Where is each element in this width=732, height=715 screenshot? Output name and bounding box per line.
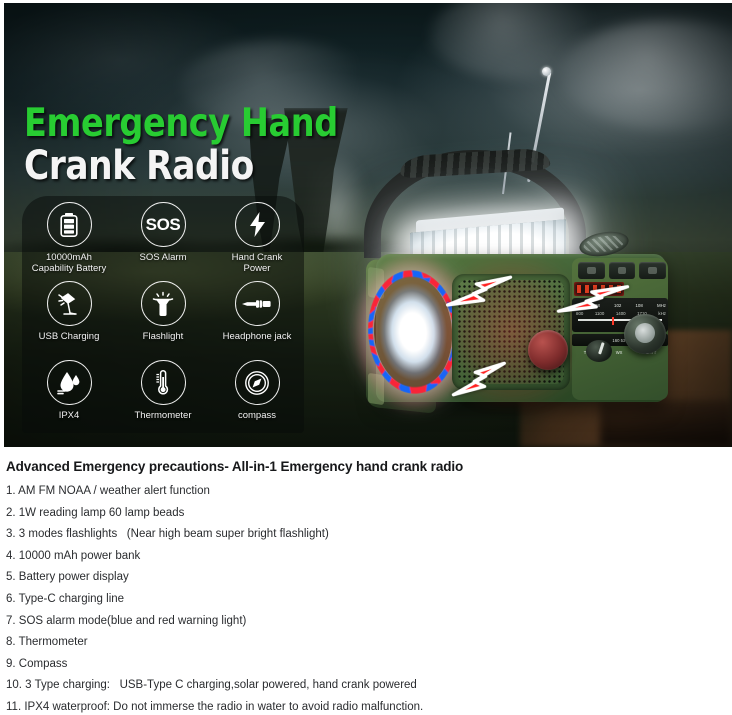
thermometer-icon [141, 360, 186, 405]
list-item: 1. AM FM NOAA / weather alert function [6, 485, 726, 507]
feature-label: Headphone jack [223, 331, 292, 342]
dial-tick: 108 [635, 303, 642, 308]
feature-label: USB Charging [39, 331, 100, 342]
water-drop-icon [47, 360, 92, 405]
spec-list: 1. AM FM NOAA / weather alert function 2… [6, 485, 726, 715]
list-item: 2. 1W reading lamp 60 lamp beads [6, 507, 726, 529]
feature-label: Hand CrankPower [232, 252, 283, 274]
list-item: 3. 3 modes flashlights (Near high beam s… [6, 528, 726, 550]
list-item: 5. Battery power display [6, 571, 726, 593]
feature-item-ipx4[interactable]: IPX4 [22, 354, 116, 433]
page-title: Advanced Emergency precautions- All-in-1… [6, 459, 726, 474]
volume-knob[interactable] [528, 330, 568, 370]
headphone-jack-icon [235, 281, 280, 326]
list-item: 4. 10000 mAh power bank [6, 550, 726, 572]
list-item: 8. Thermometer [6, 636, 726, 658]
feature-item-sos-alarm[interactable]: SOS SOS Alarm [116, 196, 210, 275]
list-item: 7. SOS alarm mode(blue and red warning l… [6, 615, 726, 637]
control-button[interactable] [639, 262, 666, 279]
sos-text-icon: SOS [141, 202, 186, 247]
hero-title-line2: Crank Radio [24, 146, 338, 186]
feature-item-headphone-jack[interactable]: Headphone jack [210, 275, 304, 354]
hero-banner: Emergency Hand Crank Radio 10000mAhCapab… [0, 0, 732, 447]
hero-title-line1: Emergency Hand [24, 104, 338, 144]
list-item: 6. Type-C charging line [6, 593, 726, 615]
product-listing-page: Emergency Hand Crank Radio 10000mAhCapab… [0, 0, 732, 715]
button-row [578, 262, 666, 279]
dial-unit: MHz [657, 303, 666, 308]
control-button[interactable] [578, 262, 605, 279]
feature-item-thermometer[interactable]: Thermometer [116, 354, 210, 433]
hero-left-border [0, 0, 4, 447]
flashlight-icon [141, 281, 186, 326]
compass-icon [235, 360, 280, 405]
feature-item-compass[interactable]: compass [210, 354, 304, 433]
lightning-accent-icon [551, 279, 632, 322]
feature-label: Thermometer [134, 410, 191, 421]
feature-label: SOS Alarm [140, 252, 187, 263]
feature-item-hand-crank[interactable]: Hand CrankPower [210, 196, 304, 275]
hero-title: Emergency Hand Crank Radio [24, 104, 389, 186]
antenna-tip [542, 67, 551, 76]
sos-glyph: SOS [146, 215, 181, 235]
feature-label: IPX4 [59, 410, 80, 421]
feature-icon-grid: 10000mAhCapability Battery SOS SOS Alarm… [22, 196, 304, 433]
list-item: 10. 3 Type charging: USB-Type C charging… [6, 679, 726, 701]
product-description: Advanced Emergency precautions- All-in-1… [0, 447, 732, 715]
feature-label: compass [238, 410, 276, 421]
list-item: 9. Compass [6, 658, 726, 680]
list-item: 11. IPX4 waterproof: Do not immerse the … [6, 701, 726, 715]
battery-icon [47, 202, 92, 247]
lightning-bolt-icon [235, 202, 280, 247]
desk-lamp-icon [47, 281, 92, 326]
feature-item-usb-charging[interactable]: USB Charging [22, 275, 116, 354]
tuning-knob[interactable] [624, 314, 666, 354]
dial-band-wx: WX [616, 350, 623, 355]
feature-item-flashlight[interactable]: Flashlight [116, 275, 210, 354]
product-image-radio: 92 98 102 108 MHz 800 1100 1400 1710 kHz… [352, 62, 722, 437]
dial-unit: kHz [658, 311, 666, 316]
lightning-accent-icon [439, 271, 514, 316]
feature-label: Flashlight [143, 331, 184, 342]
feature-item-battery[interactable]: 10000mAhCapability Battery [22, 196, 116, 275]
band-selector-switch[interactable] [586, 340, 612, 362]
hero-top-border [0, 0, 732, 3]
control-button[interactable] [609, 262, 636, 279]
feature-label: 10000mAhCapability Battery [32, 252, 106, 274]
lightning-accent-icon [446, 359, 511, 401]
